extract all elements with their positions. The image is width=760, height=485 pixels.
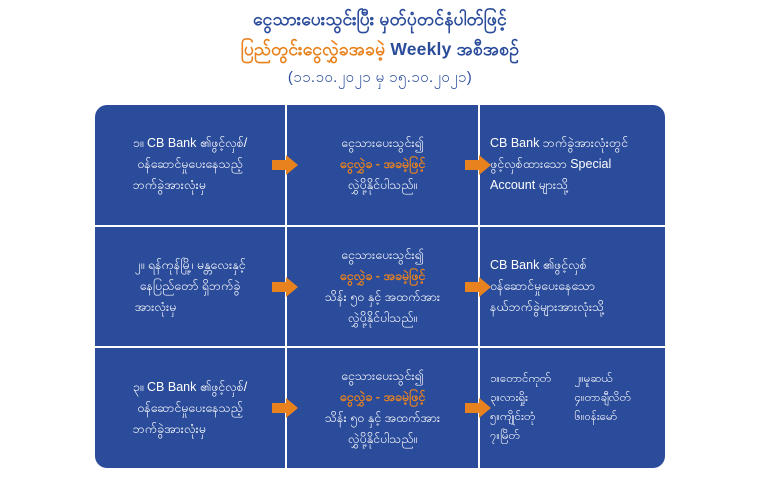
row-1-destination-line-3: Account များသို့	[490, 175, 651, 196]
row-2-condition-text: ငွေသားပေးသွင်း၍ ငွေလွှဲခ - အခမဲ့ဖြင့် သိ…	[325, 245, 440, 329]
table-row: ၁။ CB Bank ၏ဖွင့်လှစ်/ ဝန်ဆောင်မှုပေးနေသ…	[95, 105, 665, 225]
row-1-source-cell: ၁။ CB Bank ၏ဖွင့်လှစ်/ ဝန်ဆောင်မှုပေးနေသ…	[95, 105, 285, 225]
row-1-destination-cell: CB Bank ဘက်ခွဲအားလုံးတွင် ဖွင့်လှစ်ထားသေ…	[478, 105, 661, 225]
title-line-2-highlight: ပြည်တွင်းငွေလွှဲခအခမဲ့	[241, 39, 385, 59]
promo-infographic: ငွေသားပေးသွင်းပြီး မှတ်ပုံတင်နံပါတ်ဖြင့်…	[0, 0, 760, 485]
destination-city-column-right: ၂။မူဆယ် ၄။တာချီလိတ် ၆။ဝန်းမော်	[575, 370, 652, 446]
row-2-condition-line-1: ငွေသားပေးသွင်း၍	[325, 245, 440, 266]
row-3-condition-text: ငွေသားပေးသွင်း၍ ငွေလွှဲခ - အခမဲ့ဖြင့် သိ…	[325, 366, 440, 450]
row-2-condition-cell: ငွေသားပေးသွင်း၍ ငွေလွှဲခ - အခမဲ့ဖြင့် သိ…	[285, 227, 478, 347]
row-2-condition-fee-free: ငွေလွှဲခ - အခမဲ့ဖြင့်	[325, 266, 440, 287]
row-2-source-text: ၂။ ရန်ကုန်မြို့၊ မန္တလေးနှင့် နေပြည်တော်…	[134, 255, 245, 318]
table-row: ၂။ ရန်ကုန်မြို့၊ မန္တလေးနှင့် နေပြည်တော်…	[95, 225, 665, 347]
destination-city-list: ၁။တောင်ကုတ် ၃။လားရှိုး ၅။ကျိုင်းတုံ ၇။မြ…	[490, 370, 651, 446]
title-line-1: ငွေသားပေးသွင်းပြီး မှတ်ပုံတင်နံပါတ်ဖြင့်	[0, 4, 760, 34]
row-1-destination-line-1: CB Bank ဘက်ခွဲအားလုံးတွင်	[490, 133, 651, 154]
row-2-source-line-2: နေပြည်တော် ရှိဘက်ခွဲ	[134, 276, 245, 297]
row-2-destination-cell: CB Bank ၏ဖွင့်လှစ် ဝန်ဆောင်မှုပေးနေသော န…	[478, 227, 661, 347]
row-2-condition-amount: သိန်း ၅၀ နှင့် အထက်အား	[325, 287, 440, 308]
row-2-source-cell: ၂။ ရန်ကုန်မြို့၊ မန္တလေးနှင့် နေပြည်တော်…	[95, 227, 285, 347]
list-item: ၆။ဝန်းမော်	[575, 408, 652, 427]
list-item: ၂။မူဆယ်	[575, 370, 652, 389]
row-3-destination-cell: ၁။တောင်ကုတ် ၃။လားရှိုး ၅။ကျိုင်းတုံ ၇။မြ…	[478, 348, 661, 468]
row-1-condition-text: ငွေသားပေးသွင်း၍ ငွေလွှဲခ - အခမဲ့ဖြင့် လွ…	[340, 133, 425, 196]
row-3-source-text: ၃။ CB Bank ၏ဖွင့်လှစ်/ ဝန်ဆောင်မှုပေးနေသ…	[133, 377, 248, 440]
row-1-condition-line-1: ငွေသားပေးသွင်း၍	[340, 133, 425, 154]
table-row: ၃။ CB Bank ၏ဖွင့်လှစ်/ ဝန်ဆောင်မှုပေးနေသ…	[95, 346, 665, 468]
title-line-2-suffix: Weekly အစီအစဉ်	[385, 39, 519, 59]
row-2-destination-text: CB Bank ၏ဖွင့်လှစ် ဝန်ဆောင်မှုပေးနေသော န…	[490, 255, 651, 318]
list-item: ၄။တာချီလိတ်	[575, 389, 652, 408]
row-2-destination-line-2: ဝန်ဆောင်မှုပေးနေသော	[490, 276, 651, 297]
row-3-source-line-2: ဝန်ဆောင်မှုပေးနေသည့်	[133, 398, 248, 419]
title-line-2: ပြည်တွင်းငွေလွှဲခအခမဲ့ Weekly အစီအစဉ်	[0, 34, 760, 64]
list-item: ၁။တောင်ကုတ်	[490, 370, 567, 389]
row-1-condition-fee-free: ငွေလွှဲခ - အခမဲ့ဖြင့်	[340, 154, 425, 175]
row-1-destination-line-2: ဖွင့်လှစ်ထားသော Special	[490, 154, 651, 175]
row-1-source-line-1: ၁။ CB Bank ၏ဖွင့်လှစ်/	[133, 133, 248, 154]
row-2-condition-line-3: လွှဲပို့နိုင်ပါသည်။	[325, 308, 440, 329]
list-item: ၅။ကျိုင်းတုံ	[490, 408, 567, 427]
row-3-condition-amount: သိန်း ၅၀ နှင့် အထက်အား	[325, 408, 440, 429]
offer-table: ၁။ CB Bank ၏ဖွင့်လှစ်/ ဝန်ဆောင်မှုပေးနေသ…	[95, 105, 665, 468]
row-1-condition-line-3: လွှဲပို့နိုင်ပါသည်။	[340, 175, 425, 196]
row-3-condition-line-1: ငွေသားပေးသွင်း၍	[325, 366, 440, 387]
row-3-source-line-1: ၃။ CB Bank ၏ဖွင့်လှစ်/	[133, 377, 248, 398]
row-2-destination-line-1: CB Bank ၏ဖွင့်လှစ်	[490, 255, 651, 276]
destination-city-column-left: ၁။တောင်ကုတ် ၃။လားရှိုး ၅။ကျိုင်းတုံ ၇။မြ…	[490, 370, 567, 446]
row-3-condition-fee-free: ငွေလွှဲခ - အခမဲ့ဖြင့်	[325, 387, 440, 408]
header: ငွေသားပေးသွင်းပြီး မှတ်ပုံတင်နံပါတ်ဖြင့်…	[0, 4, 760, 92]
row-2-source-line-3: အားလုံးမှ	[134, 297, 245, 318]
row-1-condition-cell: ငွေသားပေးသွင်း၍ ငွေလွှဲခ - အခမဲ့ဖြင့် လွ…	[285, 105, 478, 225]
row-1-destination-text: CB Bank ဘက်ခွဲအားလုံးတွင် ဖွင့်လှစ်ထားသေ…	[490, 133, 651, 196]
row-1-source-text: ၁။ CB Bank ၏ဖွင့်လှစ်/ ဝန်ဆောင်မှုပေးနေသ…	[133, 133, 248, 196]
row-1-source-line-3: ဘက်ခွဲအားလုံးမှ	[133, 175, 248, 196]
row-3-source-line-3: ဘက်ခွဲအားလုံးမှ	[133, 419, 248, 440]
row-3-source-cell: ၃။ CB Bank ၏ဖွင့်လှစ်/ ဝန်ဆောင်မှုပေးနေသ…	[95, 348, 285, 468]
row-2-destination-line-3: နယ်ဘက်ခွဲများအားလုံးသို့	[490, 297, 651, 318]
date-range: (၁၁.၁၀.၂၀၂၁ မှ ၁၅.၁၀.၂၀၂၁)	[0, 64, 760, 92]
row-1-source-line-2: ဝန်ဆောင်မှုပေးနေသည့်	[133, 154, 248, 175]
row-2-source-line-1: ၂။ ရန်ကုန်မြို့၊ မန္တလေးနှင့်	[134, 255, 245, 276]
row-3-condition-line-3: လွှဲပို့နိုင်ပါသည်။	[325, 429, 440, 450]
list-item: ၃။လားရှိုး	[490, 389, 567, 408]
row-3-condition-cell: ငွေသားပေးသွင်း၍ ငွေလွှဲခ - အခမဲ့ဖြင့် သိ…	[285, 348, 478, 468]
list-item: ၇။မြိတ်	[490, 427, 567, 446]
